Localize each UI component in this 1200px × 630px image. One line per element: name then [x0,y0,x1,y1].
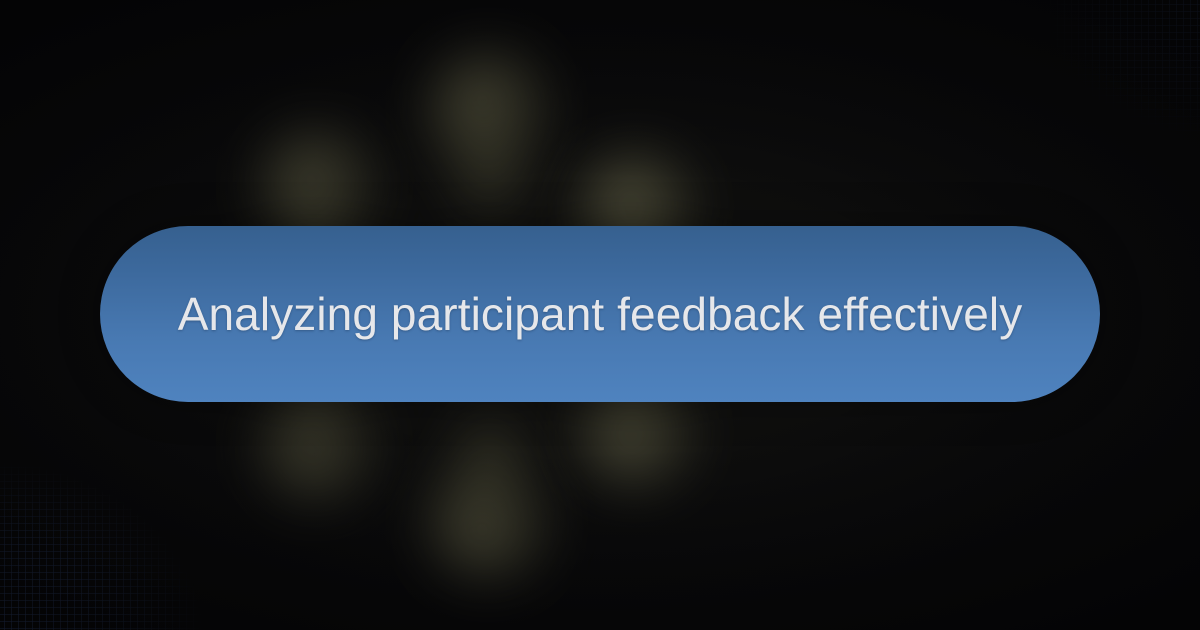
bulb-neck [463,148,518,235]
bulb-lower-center-icon [425,395,555,585]
headline-pill: Analyzing participant feedback effective… [100,226,1100,402]
headline-text: Analyzing participant feedback effective… [170,287,1030,341]
banner-canvas: Analyzing participant feedback effective… [0,0,1200,630]
bulb-neck [463,395,518,482]
bulb-top-center-icon [425,45,555,235]
